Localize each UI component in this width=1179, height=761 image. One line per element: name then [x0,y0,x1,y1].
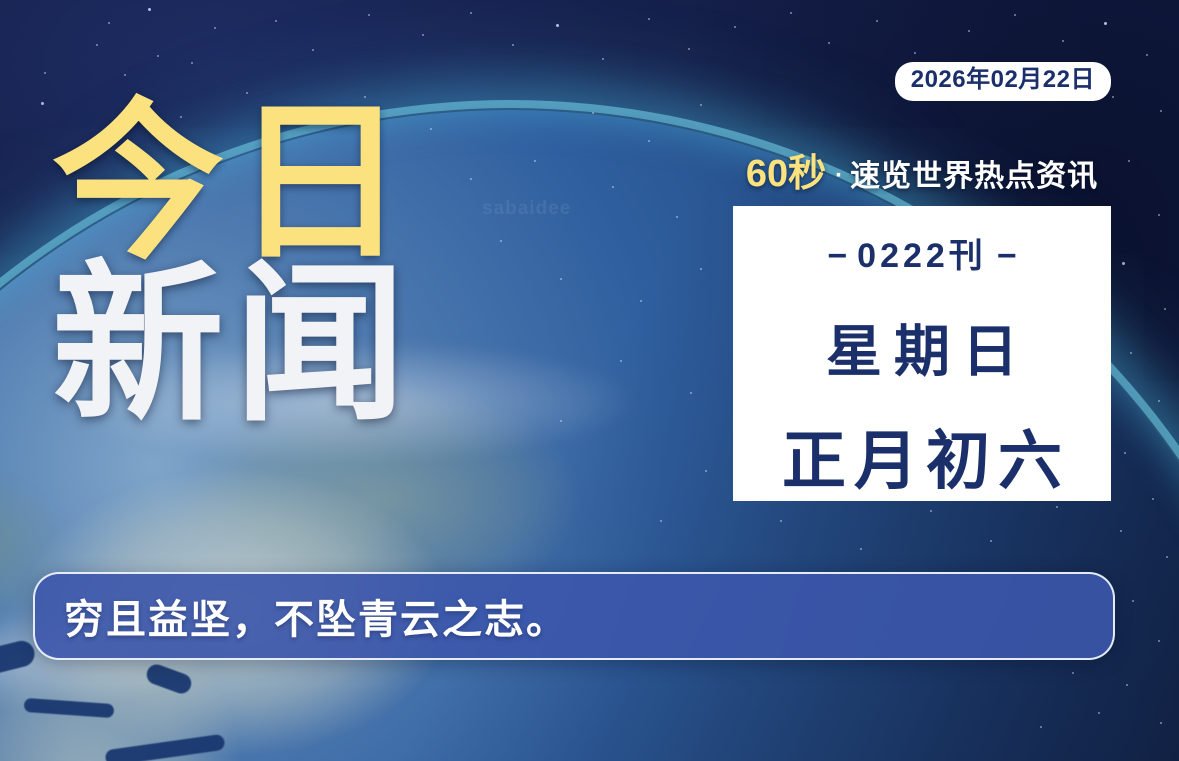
tagline-seconds: 60秒 [746,142,826,197]
tagline-separator: · [826,162,850,190]
issue-dash-right: − [987,237,1027,275]
news-poster: sabaidee 今日 新闻 2026年02月22日 60秒 · 速览世界热点资… [0,0,1179,761]
quote-bar: 穷且益坚，不坠青云之志。 [33,572,1115,660]
tagline-phrase: 速览世界热点资讯 [850,151,1098,195]
date-badge-row: 2026年02月22日 [733,62,1111,101]
date-badge: 2026年02月22日 [895,62,1111,101]
issue-label: 0222刊 [857,237,987,275]
lunar-date-label: 正月初六 [774,410,1070,502]
page-title: 今日 新闻 [52,98,472,431]
issue-dash-left: − [817,237,857,275]
quote-text: 穷且益坚，不坠青云之志。 [64,587,568,645]
page-title-line1: 今日 [52,98,472,268]
page-title-line2: 新闻 [52,260,472,430]
info-card: −0222刊− 星期日 正月初六 [733,206,1111,501]
issue-number: −0222刊− [817,228,1026,277]
weekday-label: 星期日 [814,307,1030,388]
tagline: 60秒 · 速览世界热点资讯 [733,142,1111,197]
watermark: sabaidee [482,198,571,220]
right-column: 2026年02月22日 60秒 · 速览世界热点资讯 −0222刊− 星期日 正… [733,62,1111,501]
